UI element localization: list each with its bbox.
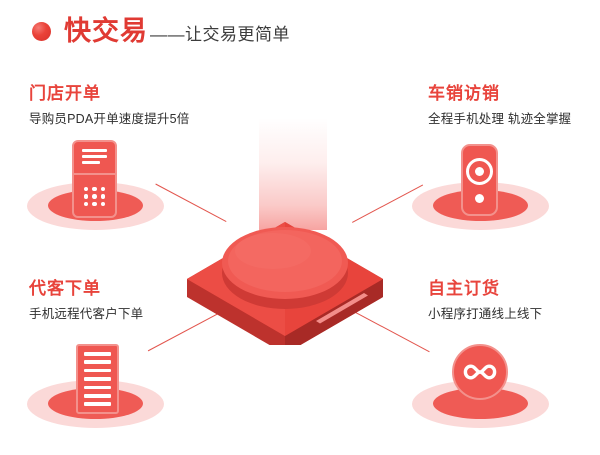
pda-key	[84, 194, 89, 199]
quadrant-title-store-billing: 门店开单	[29, 84, 189, 104]
quadrant-desc-proxy-order: 手机远程代客户下单	[29, 307, 143, 322]
quadrant-store-billing: 门店开单 导购员PDA开单速度提升5倍	[29, 84, 189, 127]
pda-screen-line	[82, 155, 107, 158]
pda-screen-line	[82, 161, 100, 164]
header: 快交易 ——让交易更简单	[32, 18, 290, 45]
pda-key	[84, 202, 89, 207]
document-line	[84, 369, 111, 373]
3d-push-button[interactable]	[185, 205, 385, 345]
document-line	[84, 377, 111, 381]
quadrant-proxy-order: 代客下单 手机远程代客户下单	[29, 279, 143, 322]
document-line	[84, 394, 111, 398]
brand-title: 快交易	[64, 18, 148, 45]
document-line	[84, 402, 111, 406]
pda-key	[101, 202, 106, 207]
pda-key	[92, 187, 97, 192]
red-dot-icon	[32, 22, 51, 41]
quadrant-vehicle-sales: 车销访销 全程手机处理 轨迹全掌握	[428, 84, 571, 127]
pda-keypad	[74, 177, 115, 216]
document-order-icon	[76, 344, 119, 414]
pda-key	[84, 187, 89, 192]
quadrant-desc-vehicle-sales: 全程手机处理 轨迹全掌握	[428, 112, 571, 127]
document-line	[84, 352, 111, 356]
button-graphic	[185, 205, 385, 345]
location-ring-icon	[466, 158, 493, 185]
pda-screen	[74, 142, 115, 175]
infinity-circle-icon	[452, 344, 508, 400]
infographic-canvas: 快交易 ——让交易更简单 门店开单 导购员PD	[0, 0, 600, 455]
pda-key	[92, 202, 97, 207]
quadrant-title-vehicle-sales: 车销访销	[428, 84, 571, 104]
pda-key	[101, 194, 106, 199]
quadrant-self-order: 自主订货 小程序打通线上线下	[428, 279, 542, 322]
quadrant-desc-self-order: 小程序打通线上线下	[428, 307, 542, 322]
pda-device-icon	[72, 140, 117, 218]
document-line	[84, 360, 111, 364]
location-ring-center	[475, 167, 484, 176]
quadrant-title-proxy-order: 代客下单	[29, 279, 143, 299]
document-line	[84, 386, 111, 390]
pda-screen-line	[82, 149, 107, 152]
pda-key	[101, 187, 106, 192]
pda-key	[92, 194, 97, 199]
phone-home-button	[475, 194, 484, 203]
infinity-symbol-icon	[461, 362, 499, 382]
mobile-phone-location-icon	[461, 144, 498, 216]
quadrant-title-self-order: 自主订货	[428, 279, 542, 299]
quadrant-desc-store-billing: 导购员PDA开单速度提升5倍	[29, 112, 189, 127]
brand-tagline: ——让交易更简单	[150, 26, 290, 43]
